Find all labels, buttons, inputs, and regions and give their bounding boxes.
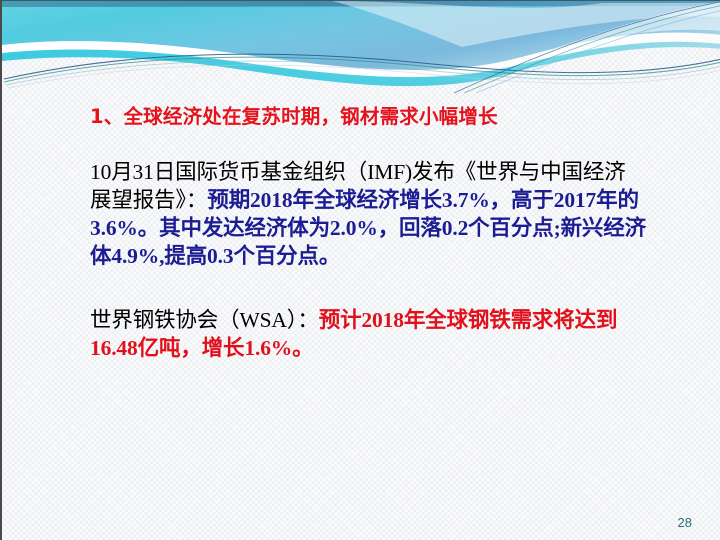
slide-canvas: 1、全球经济处在复苏时期，钢材需求小幅增长 10月31日国际货币基金组织（IMF…: [0, 0, 720, 540]
teal-wave-banner: [2, 1, 720, 93]
imf-paragraph: 10月31日国际货币基金组织（IMF)发布《世界与中国经济展望报告》：预期201…: [90, 159, 646, 271]
wsa-paragraph: 世界钢铁协会（WSA）：预计2018年全球钢铁需求将达到16.48亿吨，增长1.…: [90, 307, 646, 363]
slide-content: 1、全球经济处在复苏时期，钢材需求小幅增长 10月31日国际货币基金组织（IMF…: [90, 105, 646, 363]
wsa-lead-text: 世界钢铁协会（WSA）：: [90, 308, 319, 332]
page-number: 28: [678, 515, 692, 530]
page-title: 1、全球经济处在复苏时期，钢材需求小幅增长: [90, 105, 646, 129]
